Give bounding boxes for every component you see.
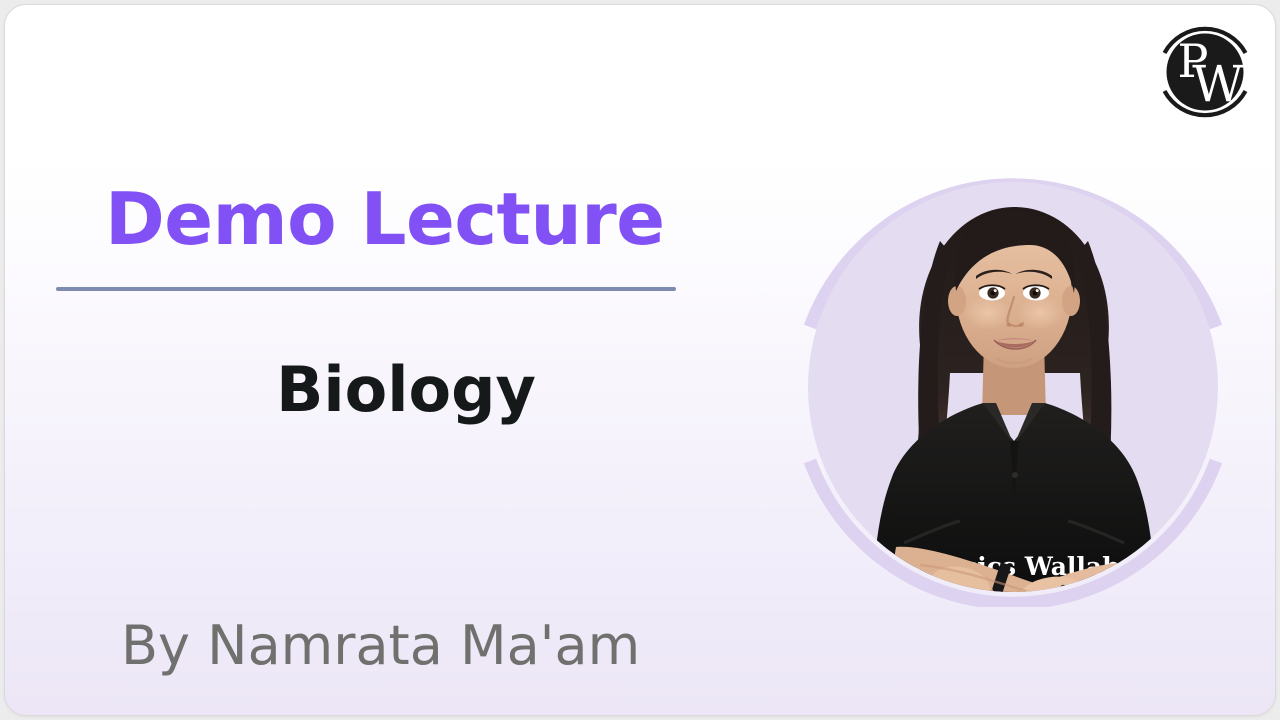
instructor-portrait: Physics Wallah xyxy=(800,145,1232,607)
pw-logo: P W xyxy=(1150,17,1260,127)
logo-letter-w: W xyxy=(1192,55,1244,113)
page-title: Demo Lecture xyxy=(105,183,665,255)
subject-heading: Biology xyxy=(56,357,756,422)
text-column: Demo Lecture Biology By Namrata Ma'am xyxy=(5,5,745,716)
title-divider xyxy=(56,287,676,291)
slide-card: Demo Lecture Biology By Namrata Ma'am P … xyxy=(4,4,1276,716)
instructor-byline: By Namrata Ma'am xyxy=(121,618,640,675)
